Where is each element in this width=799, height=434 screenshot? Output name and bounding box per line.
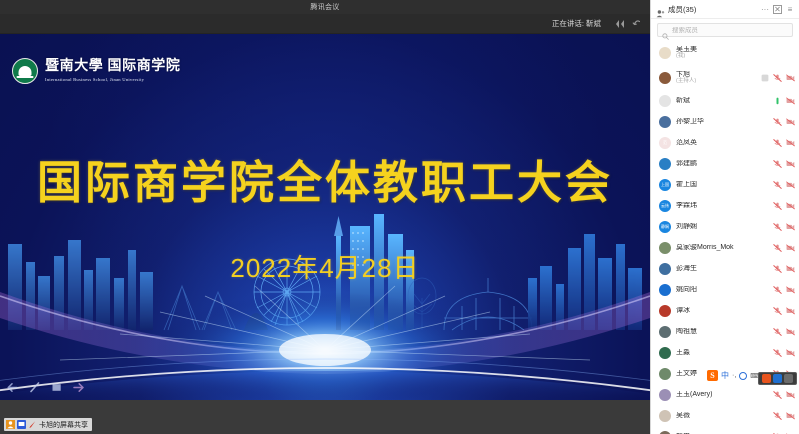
collapse-arrow-icon[interactable] <box>632 19 642 29</box>
microphone-muted-icon[interactable] <box>773 74 782 82</box>
annotation-toolbar[interactable] <box>6 381 85 394</box>
screen-share-icon <box>17 420 26 429</box>
jinan-university-crest-icon <box>12 58 38 84</box>
participant-actions <box>773 97 795 105</box>
meeting-topbar: 正在讲话: 靳斌 <box>0 14 650 34</box>
participant-actions <box>773 349 795 357</box>
camera-off-icon[interactable] <box>786 202 795 210</box>
participant-info: 李霖玮 <box>676 202 768 209</box>
ime-skin-icon[interactable] <box>739 372 747 380</box>
participant-row[interactable]: 吴薇 <box>651 405 799 426</box>
participant-info: 王淼 <box>676 349 768 356</box>
microphone-muted-icon[interactable] <box>773 412 782 420</box>
participant-name: 王玉(Avery) <box>676 391 768 398</box>
participant-info: 范凤英 <box>676 139 768 146</box>
shared-slide: 暨南大學 国际商学院 International Business School… <box>0 34 650 400</box>
microphone-active-icon[interactable] <box>773 97 782 105</box>
view-switch-icon[interactable] <box>615 19 627 29</box>
avatar <box>659 389 671 401</box>
participant-name: 莫家骏Morris_Mok <box>676 244 768 251</box>
microphone-muted-icon[interactable] <box>773 307 782 315</box>
participant-row[interactable]: 谭冰 <box>651 300 799 321</box>
avatar <box>659 347 671 359</box>
more-options-button[interactable]: ··· <box>759 3 771 15</box>
avatar: 云纬 <box>659 200 671 212</box>
avatar: 静娴 <box>659 221 671 233</box>
participant-actions <box>773 202 795 210</box>
undo-arrow-tool[interactable] <box>6 381 19 394</box>
search-box[interactable] <box>657 23 793 37</box>
participant-info: 霍上国 <box>676 181 768 188</box>
participant-info: 靳斌 <box>676 97 768 104</box>
camera-off-icon[interactable] <box>786 74 795 82</box>
screen-share-indicator[interactable]: 卡旭的屏幕共享 <box>4 418 92 431</box>
camera-off-icon[interactable] <box>786 412 795 420</box>
microphone-muted-icon[interactable] <box>773 328 782 336</box>
participant-row[interactable]: 王玉(Avery) <box>651 384 799 405</box>
search-input[interactable] <box>672 27 788 34</box>
participant-name: 王淼 <box>676 349 768 356</box>
camera-off-icon[interactable] <box>786 286 795 294</box>
microphone-muted-icon[interactable] <box>773 118 782 126</box>
avatar <box>659 326 671 338</box>
participant-row[interactable]: 范范凤英 <box>651 132 799 153</box>
microphone-muted-icon[interactable] <box>773 286 782 294</box>
meeting-titlebar: 腾讯会议 <box>0 0 650 14</box>
topbar-icon-group <box>615 19 642 29</box>
avatar <box>659 116 671 128</box>
slide-title: 国际商学院全体教职工大会 <box>0 146 650 211</box>
participants-count-title: 成员(35) <box>668 4 759 15</box>
avatar <box>659 284 671 296</box>
logo-text-english: International Business School, Jinan Uni… <box>45 77 181 82</box>
participant-name: 吴薇 <box>676 412 768 419</box>
participant-row[interactable]: 卞旭(主持人) <box>651 65 799 90</box>
search-area <box>651 19 799 40</box>
microphone-muted-icon[interactable] <box>773 139 782 147</box>
university-logo: 暨南大學 国际商学院 International Business School… <box>12 58 181 84</box>
participant-actions <box>773 265 795 273</box>
ime-punctuation-icon[interactable]: ·, <box>732 372 736 379</box>
participant-actions <box>773 118 795 126</box>
camera-off-icon[interactable] <box>786 265 795 273</box>
camera-off-icon[interactable] <box>786 97 795 105</box>
participant-row[interactable]: 孙黎卫华 <box>651 111 799 132</box>
logo-text-block: 暨南大學 国际商学院 International Business School… <box>45 60 181 81</box>
participant-info: 莫家骏Morris_Mok <box>676 244 768 251</box>
participant-row[interactable]: 王淼 <box>651 342 799 363</box>
microphone-muted-icon[interactable] <box>773 181 782 189</box>
camera-off-icon[interactable] <box>786 181 795 189</box>
participant-row[interactable]: 陶祖慧 <box>651 321 799 342</box>
meeting-window: 腾讯会议 正在讲话: 靳斌 暨南大學 国际商学院 International B… <box>0 0 650 434</box>
participant-row[interactable]: 云纬李霖玮 <box>651 195 799 216</box>
tray-app-icon[interactable] <box>773 374 782 383</box>
annotate-pen-icon <box>28 420 37 429</box>
participant-name: 靳斌 <box>676 97 768 104</box>
participant-actions <box>773 139 795 147</box>
pen-tool[interactable] <box>28 381 41 394</box>
participant-row[interactable]: 莫家骏Morris_Mok <box>651 237 799 258</box>
participant-info: 吴薇 <box>676 412 768 419</box>
sogou-logo-icon[interactable]: S <box>707 370 718 381</box>
avatar <box>659 305 671 317</box>
participant-info: 刘静娴 <box>676 223 768 230</box>
avatar <box>659 158 671 170</box>
participant-name: 姚向阳 <box>676 286 768 293</box>
microphone-muted-icon[interactable] <box>773 223 782 231</box>
redo-arrow-tool[interactable] <box>72 381 85 394</box>
participant-actions <box>773 307 795 315</box>
avatar <box>659 410 671 422</box>
tray-expand-icon[interactable] <box>784 374 793 383</box>
participant-row[interactable]: 上国霍上国 <box>651 174 799 195</box>
meeting-bottom-bar: 卡旭的屏幕共享 <box>0 400 650 434</box>
participant-row[interactable]: 颜岩 <box>651 426 799 434</box>
microphone-muted-icon[interactable] <box>773 160 782 168</box>
camera-off-icon[interactable] <box>786 307 795 315</box>
participant-info: 姚向阳 <box>676 286 768 293</box>
participant-role: (主持人) <box>676 79 755 85</box>
participant-row[interactable]: 彭海生 <box>651 258 799 279</box>
participant-info: 孙黎卫华 <box>676 118 768 125</box>
avatar <box>659 47 671 59</box>
participant-actions <box>773 223 795 231</box>
participant-name: 孙黎卫华 <box>676 118 768 125</box>
camera-off-icon[interactable] <box>786 391 795 399</box>
participant-name: 陶祖慧 <box>676 328 768 335</box>
participant-name: 谭冰 <box>676 307 768 314</box>
participant-actions <box>773 160 795 168</box>
participant-info: 郭建鹏 <box>676 160 768 167</box>
avatar <box>659 368 671 380</box>
camera-off-icon[interactable] <box>786 118 795 126</box>
avatar: 范 <box>659 137 671 149</box>
participant-row[interactable]: 姚向阳 <box>651 279 799 300</box>
participant-name: 刘静娴 <box>676 223 768 230</box>
participant-actions <box>773 244 795 252</box>
panel-menu-button[interactable]: ≡ <box>784 3 796 15</box>
camera-off-icon[interactable] <box>786 244 795 252</box>
logo-text-chinese: 暨南大學 国际商学院 <box>45 60 181 75</box>
members-icon <box>656 5 665 14</box>
participant-info: 谭冰 <box>676 307 768 314</box>
microphone-muted-icon[interactable] <box>773 349 782 357</box>
camera-off-icon[interactable] <box>786 328 795 336</box>
participant-actions <box>773 328 795 336</box>
participant-info: 陶祖慧 <box>676 328 768 335</box>
avatar <box>659 263 671 275</box>
camera-off-icon[interactable] <box>786 349 795 357</box>
participant-name: 霍上国 <box>676 181 768 188</box>
screen-root: 腾讯会议 正在讲话: 靳斌 暨南大學 国际商学院 International B… <box>0 0 799 434</box>
participants-panel-header: 成员(35) ··· ✕ ≡ <box>651 0 799 19</box>
participant-actions <box>760 74 795 82</box>
camera-off-icon[interactable] <box>786 139 795 147</box>
ime-mode-label[interactable]: 中 <box>721 370 729 381</box>
camera-off-icon[interactable] <box>786 160 795 168</box>
participant-row[interactable]: 吴玉美(我) <box>651 40 799 65</box>
avatar <box>659 431 671 434</box>
person-icon <box>6 420 15 429</box>
slide-cityscape-artwork <box>0 200 650 400</box>
participant-info: 王玉(Avery) <box>676 391 768 398</box>
search-icon <box>662 27 669 34</box>
microphone-muted-icon[interactable] <box>773 265 782 273</box>
avatar <box>659 95 671 107</box>
close-panel-button[interactable]: ✕ <box>773 5 782 14</box>
app-title: 腾讯会议 <box>310 2 339 12</box>
participant-actions <box>773 181 795 189</box>
tray-sogou-icon[interactable] <box>762 374 771 383</box>
participant-role: (我) <box>676 54 790 60</box>
participant-info: 彭海生 <box>676 265 768 272</box>
microphone-muted-icon[interactable] <box>773 391 782 399</box>
participant-info: 卞旭(主持人) <box>676 71 755 85</box>
speaking-status: 正在讲话: 靳斌 <box>552 18 601 29</box>
ime-tray-popup[interactable] <box>758 372 797 385</box>
participant-actions <box>773 391 795 399</box>
participant-row[interactable]: 靳斌 <box>651 90 799 111</box>
rectangle-tool[interactable] <box>50 381 63 394</box>
camera-off-icon[interactable] <box>786 223 795 231</box>
participant-name: 李霖玮 <box>676 202 768 209</box>
participant-row[interactable]: 郭建鹏 <box>651 153 799 174</box>
participant-name: 卞旭 <box>676 71 755 78</box>
participant-info: 吴玉美(我) <box>676 46 790 60</box>
participant-name: 郭建鹏 <box>676 160 768 167</box>
microphone-muted-icon[interactable] <box>773 244 782 252</box>
participant-actions <box>773 286 795 294</box>
participant-name: 彭海生 <box>676 265 768 272</box>
avatar <box>659 242 671 254</box>
participant-name: 吴玉美 <box>676 46 790 53</box>
slide-date: 2022年4月28日 <box>0 248 650 285</box>
host-badge-icon <box>760 74 769 82</box>
share-owner-label: 卡旭的屏幕共享 <box>39 420 88 430</box>
participant-actions <box>773 412 795 420</box>
participant-row[interactable]: 静娴刘静娴 <box>651 216 799 237</box>
microphone-muted-icon[interactable] <box>773 202 782 210</box>
avatar: 上国 <box>659 179 671 191</box>
participant-name: 范凤英 <box>676 139 768 146</box>
avatar <box>659 72 671 84</box>
